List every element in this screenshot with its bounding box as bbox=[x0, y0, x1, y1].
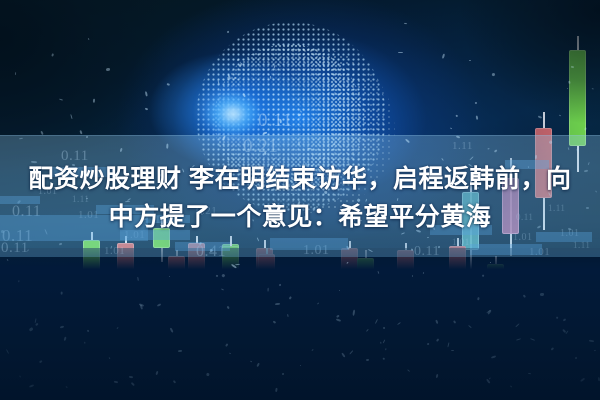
price-number: 0.11 bbox=[258, 110, 293, 132]
headline-line-2: 中方提了一个意见：希望平分黄海 bbox=[14, 198, 586, 236]
headline-text: 配资炒股理财 李在明结束访华，启程返韩前，向 中方提了一个意见：希望平分黄海 bbox=[0, 160, 600, 236]
headline-line-1: 配资炒股理财 李在明结束访华，启程返韩前，向 bbox=[29, 165, 572, 193]
news-banner-image: 0.110.210.111.111.111.011.110.111.011.01… bbox=[0, 0, 600, 400]
dark-corner-right bbox=[420, 0, 600, 140]
bottom-dark-overlay bbox=[0, 248, 600, 400]
